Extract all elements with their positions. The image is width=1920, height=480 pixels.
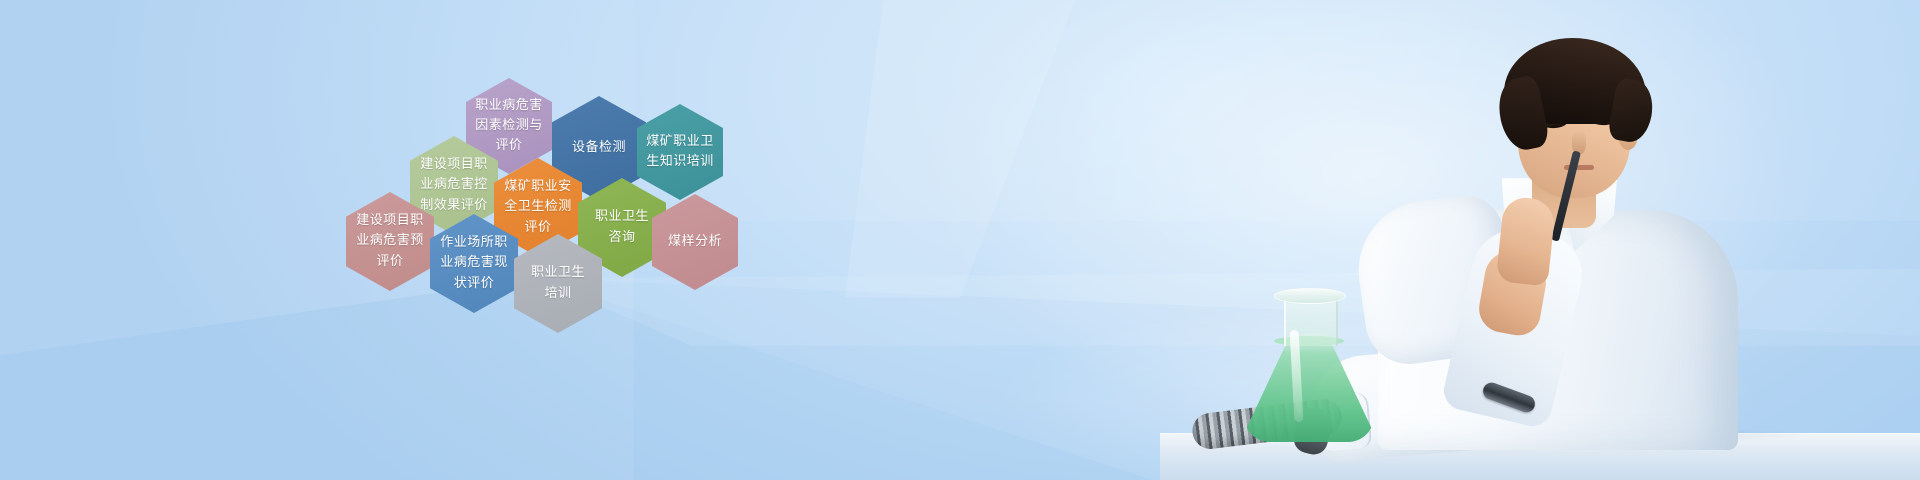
person-hand-to-chin: [1496, 196, 1557, 287]
banner: 职业病危害 因素检测与 评价设备检测煤矿职业卫 生知识培训建设项目职 业病危害控…: [0, 0, 1920, 480]
flask-body: [1244, 334, 1374, 442]
hexagon-label: 建设项目职 业病危害预 评价: [347, 211, 433, 271]
hexagon-label: 设备检测: [563, 138, 635, 158]
hexagon-label: 职业病危害 因素检测与 评价: [466, 96, 552, 156]
hexagon-label: 建设项目职 业病危害控 制效果评价: [411, 155, 497, 215]
hexagon-label: 作业场所职 业病危害现 状评价: [431, 233, 517, 293]
erlenmeyer-flask: [1244, 292, 1374, 442]
hexagon-label: 煤矿职业安 全卫生检测 评价: [495, 177, 581, 237]
hexagon-label: 职业卫生 咨询: [586, 207, 658, 247]
hexagon-label: 煤样分析: [659, 232, 731, 252]
hexagon-label: 煤矿职业卫 生知识培训: [637, 132, 723, 172]
hex-coal-mine-occupational-health-knowledge-training[interactable]: 煤矿职业卫 生知识培训: [637, 104, 723, 200]
flask-rim: [1274, 288, 1346, 304]
hexagon-label: 职业卫生 培训: [522, 263, 594, 303]
photo-lab-technician: [1160, 0, 1920, 480]
